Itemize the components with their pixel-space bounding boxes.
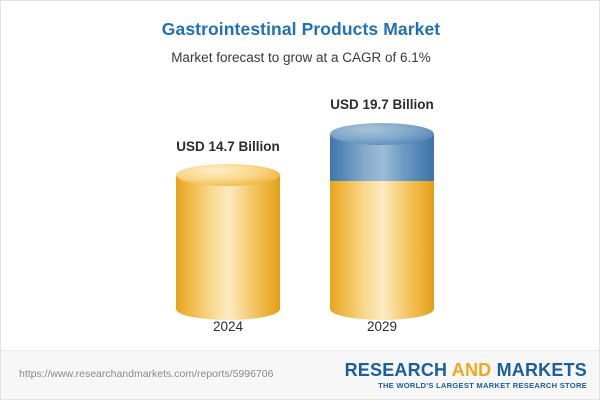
bar-value-label-2029: USD 19.7 Billion — [282, 97, 482, 112]
bar-group-2024: USD 14.7 Billion 2024 — [176, 1, 280, 351]
cylinder-2024[interactable] — [176, 164, 280, 309]
cylinder-top-2029 — [330, 123, 434, 145]
chart-plot-area: USD 14.7 Billion 2024 USD 19.7 Billion — [1, 1, 600, 351]
cylinder-top-2024 — [176, 164, 280, 186]
cylinder-body-gold-2029 — [330, 181, 434, 309]
bar-group-2029: USD 19.7 Billion 2029 — [330, 1, 434, 351]
footer-bar: https://www.researchandmarkets.com/repor… — [1, 350, 600, 399]
logo-word-markets: MARKETS — [497, 360, 587, 380]
chart-card: Gastrointestinal Products Market Market … — [0, 0, 600, 400]
logo-word-and: AND — [452, 360, 492, 380]
logo-tagline: THE WORLD'S LARGEST MARKET RESEARCH STOR… — [345, 381, 587, 390]
logo-wordmark: RESEARCH AND MARKETS — [345, 360, 587, 380]
logo-word-research: RESEARCH — [345, 360, 448, 380]
cylinder-2029[interactable] — [330, 123, 434, 309]
report-url-link[interactable]: https://www.researchandmarkets.com/repor… — [19, 368, 273, 380]
bar-value-label-2024: USD 14.7 Billion — [128, 139, 328, 154]
cylinder-body-gold-2024 — [176, 175, 280, 309]
axis-label-2029: 2029 — [282, 319, 482, 334]
research-and-markets-logo[interactable]: RESEARCH AND MARKETS THE WORLD'S LARGEST… — [345, 360, 587, 390]
